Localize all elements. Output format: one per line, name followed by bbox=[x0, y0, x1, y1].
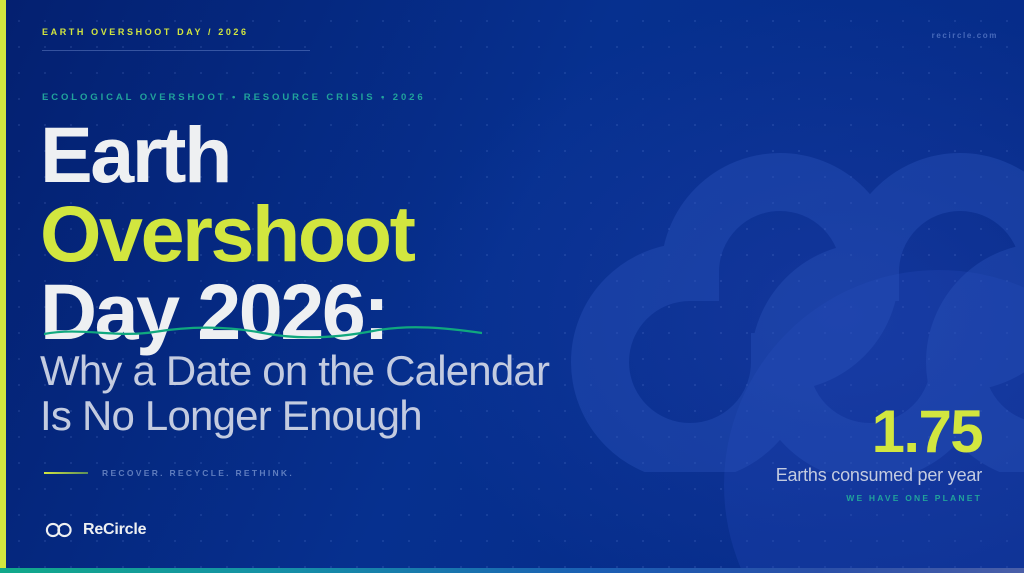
stat-block: 1.75 Earths consumed per year WE HAVE ON… bbox=[776, 404, 982, 503]
tagline-dash-icon bbox=[44, 472, 88, 474]
infinity-loop-icon bbox=[44, 521, 74, 539]
wavy-underline-accent bbox=[44, 325, 482, 339]
brand-logo[interactable]: ReCircle bbox=[44, 521, 146, 539]
hero-kicker: ECOLOGICAL OVERSHOOT • RESOURCE CRISIS •… bbox=[42, 92, 426, 103]
subhead-line-1: Why a Date on the Calendar bbox=[40, 348, 549, 393]
eyebrow-label: EARTH OVERSHOOT DAY / 2026 bbox=[42, 27, 249, 37]
stat-value: 1.75 bbox=[776, 404, 982, 459]
bottom-gradient-strip bbox=[0, 568, 1024, 573]
left-accent-bar bbox=[0, 0, 6, 573]
stat-label: Earths consumed per year bbox=[776, 465, 982, 486]
eyebrow-divider bbox=[42, 50, 310, 51]
page-subtitle: Why a Date on the Calendar Is No Longer … bbox=[40, 348, 549, 439]
slide-canvas: EARTH OVERSHOOT DAY / 2026 recircle.com … bbox=[0, 0, 1024, 573]
headline-line-2: Overshoot bbox=[40, 195, 413, 274]
slide-content: EARTH OVERSHOOT DAY / 2026 recircle.com … bbox=[0, 0, 1024, 573]
tagline: RECOVER. RECYCLE. RETHINK. bbox=[44, 468, 294, 478]
subhead-line-2: Is No Longer Enough bbox=[40, 393, 549, 438]
tagline-text: RECOVER. RECYCLE. RETHINK. bbox=[102, 468, 294, 478]
page-title: Earth Overshoot Day 2026: bbox=[40, 116, 413, 352]
stat-note: WE HAVE ONE PLANET bbox=[776, 493, 982, 503]
headline-line-1: Earth bbox=[40, 116, 413, 195]
site-url-label: recircle.com bbox=[932, 31, 998, 40]
headline-line-3: Day 2026: bbox=[40, 273, 413, 352]
brand-name: ReCircle bbox=[83, 521, 146, 539]
